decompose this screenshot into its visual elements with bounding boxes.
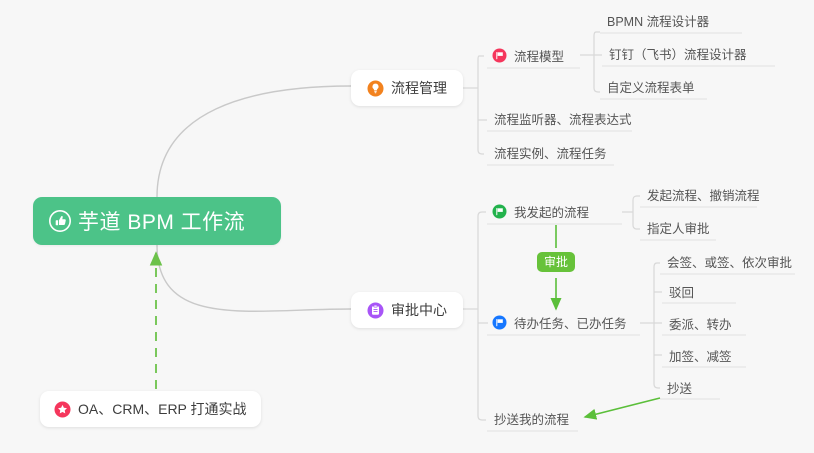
flag-icon <box>492 315 507 330</box>
flag-icon <box>492 48 507 63</box>
mindmap-canvas: 芋道 BPM 工作流 流程管理 流程模型 流程监听器、流程表达式 流程实例、流 <box>0 0 814 453</box>
leaf-node-start-cancel-flow[interactable]: 发起流程、撤销流程 <box>640 181 767 207</box>
approval-tag: 审批 <box>537 252 575 272</box>
leaf-label-flow-model: 流程模型 <box>514 46 564 65</box>
leaf-label-delegate-transfer: 委派、转办 <box>669 314 732 333</box>
leaf-node-flow-model[interactable]: 流程模型 <box>487 42 571 68</box>
flag-icon <box>492 204 507 219</box>
approval-tag-label: 审批 <box>544 255 568 269</box>
bottom-card-label: OA、CRM、ERP 打通实战 <box>78 399 247 419</box>
edge-flow-management-trunk <box>478 56 484 154</box>
leaf-label-custom-flow-form: 自定义流程表单 <box>607 77 695 96</box>
leaf-node-assignee-approval[interactable]: 指定人审批 <box>640 214 717 240</box>
leaf-label-reject: 驳回 <box>669 282 694 301</box>
leaf-label-bpmn-designer: BPMN 流程设计器 <box>607 11 709 30</box>
leaf-node-counter-or-sequential-sign[interactable]: 会签、或签、依次审批 <box>660 248 799 274</box>
leaf-node-my-started-flows[interactable]: 我发起的流程 <box>487 198 596 224</box>
branch-label-approval-center: 审批中心 <box>391 300 447 320</box>
branch-node-approval-center[interactable]: 审批中心 <box>351 292 463 328</box>
leaf-node-cc[interactable]: 抄送 <box>660 374 699 400</box>
branch-label-flow-management: 流程管理 <box>391 78 447 98</box>
leaf-node-delegate-transfer[interactable]: 委派、转办 <box>662 310 739 336</box>
leaf-label-cc-to-me-flows: 抄送我的流程 <box>494 409 569 428</box>
arrow-cc-to-my-flows <box>585 398 660 417</box>
edge-todo-trunk <box>654 263 660 388</box>
leaf-label-flow-instance: 流程实例、流程任务 <box>494 143 607 162</box>
leaf-label-flow-listener: 流程监听器、流程表达式 <box>494 109 632 128</box>
leaf-node-cc-to-me-flows[interactable]: 抄送我的流程 <box>487 405 576 431</box>
leaf-label-cc: 抄送 <box>667 378 692 397</box>
leaf-node-custom-flow-form[interactable]: 自定义流程表单 <box>600 73 702 99</box>
leaf-label-assignee-approval: 指定人审批 <box>647 218 710 237</box>
leaf-node-flow-listener[interactable]: 流程监听器、流程表达式 <box>487 105 639 131</box>
edge-my-started-trunk <box>633 196 640 229</box>
leaf-node-dingtalk-feishu-designer[interactable]: 钉钉（飞书）流程设计器 <box>602 40 754 66</box>
leaf-node-bpmn-designer[interactable]: BPMN 流程设计器 <box>600 7 716 33</box>
root-label: 芋道 BPM 工作流 <box>78 206 245 236</box>
leaf-node-reject[interactable]: 驳回 <box>662 278 701 304</box>
star-icon <box>54 401 71 418</box>
leaf-label-counter-or-sequential-sign: 会签、或签、依次审批 <box>667 252 792 271</box>
bottom-card[interactable]: OA、CRM、ERP 打通实战 <box>40 391 261 427</box>
leaf-node-add-remove-sign[interactable]: 加签、减签 <box>662 342 739 368</box>
leaf-label-dingtalk-feishu-designer: 钉钉（飞书）流程设计器 <box>609 44 747 63</box>
leaf-node-todo-done-tasks[interactable]: 待办任务、已办任务 <box>487 309 634 335</box>
leaf-label-my-started-flows: 我发起的流程 <box>514 202 589 221</box>
leaf-node-flow-instance[interactable]: 流程实例、流程任务 <box>487 139 614 165</box>
clipboard-icon <box>367 302 384 319</box>
leaf-label-add-remove-sign: 加签、减签 <box>669 346 732 365</box>
lightbulb-pin-icon <box>367 80 384 97</box>
edge-root-to-flow-management <box>157 86 351 197</box>
leaf-label-start-cancel-flow: 发起流程、撤销流程 <box>647 185 760 204</box>
edge-approval-center-trunk <box>478 212 486 420</box>
edge-root-to-approval-center <box>157 245 351 311</box>
branch-node-flow-management[interactable]: 流程管理 <box>351 70 463 106</box>
thumbs-up-icon <box>49 210 71 232</box>
root-node[interactable]: 芋道 BPM 工作流 <box>33 197 281 245</box>
leaf-label-todo-done-tasks: 待办任务、已办任务 <box>514 313 627 332</box>
